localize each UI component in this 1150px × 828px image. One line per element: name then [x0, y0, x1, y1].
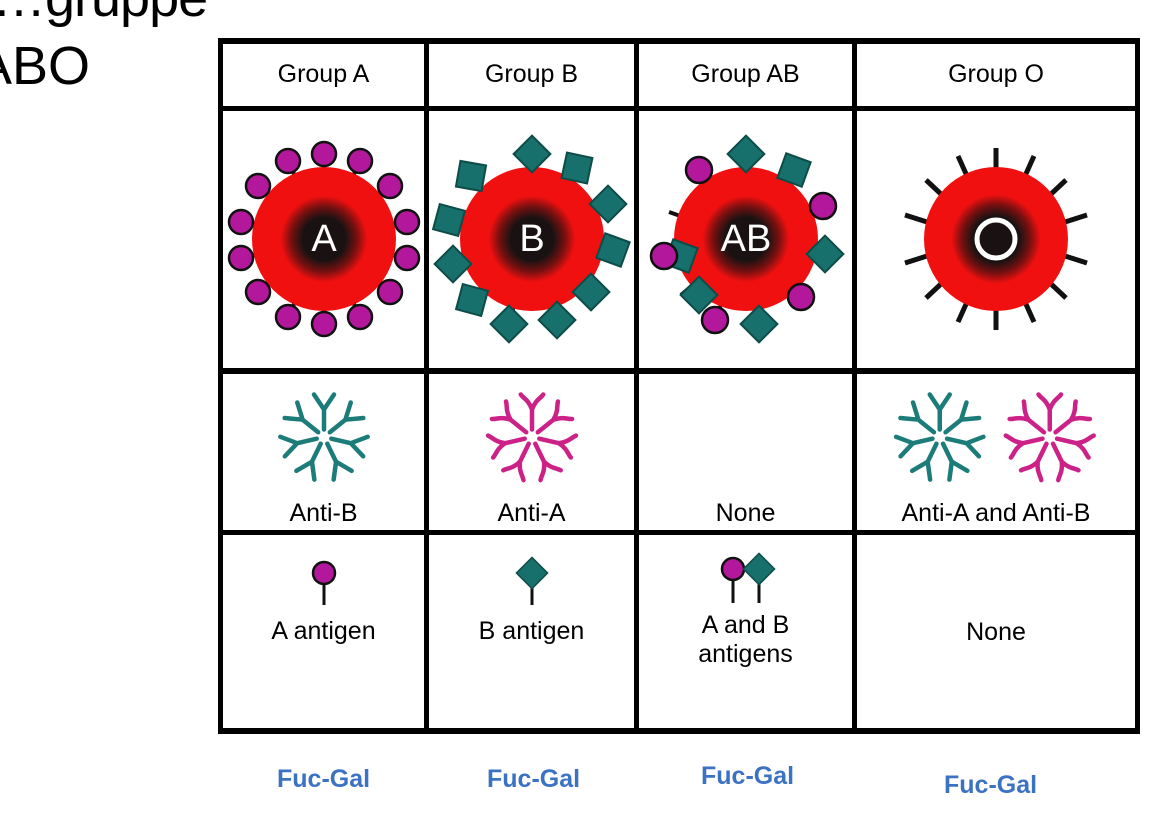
anti-b-antibody-cluster — [249, 383, 399, 491]
anti-a-and-anti-b-antibody-clusters — [871, 383, 1121, 491]
cell-letter-ab: AB — [720, 218, 771, 260]
antigen-caption-ab: A and B antigens — [698, 611, 793, 669]
fucgal-label-group-ab: Fuc-Gal — [701, 762, 794, 791]
fucgal-label-group-a: Fuc-Gal — [277, 765, 370, 794]
cell-letter-a: A — [311, 218, 337, 260]
anti-a-antibody-cluster — [457, 383, 607, 491]
cell-antibodies-group-ab: None — [639, 374, 852, 530]
red-blood-cell-ab-illustration: AB — [651, 132, 841, 347]
red-blood-cell-b-illustration: B — [437, 132, 627, 347]
b-antigen-marker — [512, 559, 552, 611]
table-border-bottom — [218, 728, 1140, 734]
antigen-caption-b: B antigen — [479, 617, 585, 645]
cell-antibodies-group-o: Anti-A and Anti-B — [857, 374, 1135, 530]
fucgal-label-group-b: Fuc-Gal — [487, 765, 580, 794]
cell-rbc-group-ab: AB — [639, 111, 852, 368]
cell-antigens-group-ab: A and B antigens — [639, 535, 852, 728]
anti-a-cluster — [1006, 395, 1094, 481]
antibody-caption-ab: None — [716, 499, 776, 527]
antibody-caption-a: Anti-B — [289, 499, 357, 527]
red-blood-cell-o-illustration — [901, 132, 1091, 347]
antigen-caption-o: None — [966, 618, 1026, 646]
blood-type-table: Group A Group B Group AB Group O — [218, 38, 1140, 733]
column-header-group-b: Group B — [429, 38, 634, 110]
table-border-right — [1135, 38, 1140, 734]
column-header-group-o: Group O — [857, 38, 1135, 110]
red-blood-cell-a-illustration: A — [229, 132, 419, 347]
a-and-b-antigen-markers — [711, 555, 781, 607]
page-title-cut: …gruppe — [0, 0, 207, 26]
cell-antibodies-group-b: Anti-A — [429, 374, 634, 530]
antigen-caption-ab-line2: antigens — [698, 640, 793, 668]
antibody-caption-o: Anti-A and Anti-B — [901, 499, 1090, 527]
a-antigen-marker — [304, 559, 344, 611]
cell-rbc-group-b: B — [429, 111, 634, 368]
antigen-caption-a: A antigen — [271, 617, 375, 645]
cell-antigens-group-b: B antigen — [429, 535, 634, 728]
antigen-caption-ab-line1: A and B — [702, 611, 790, 639]
fucgal-label-group-o: Fuc-Gal — [944, 771, 1037, 800]
cell-antibodies-group-a: Anti-B — [223, 374, 424, 530]
page-subtitle-abo: ABO — [0, 38, 90, 94]
column-header-group-a: Group A — [223, 38, 424, 110]
cell-antigens-group-a: A antigen — [223, 535, 424, 728]
column-header-text: Group B — [485, 60, 578, 89]
column-header-text: Group O — [948, 60, 1044, 89]
column-header-group-ab: Group AB — [639, 38, 852, 110]
anti-b-cluster — [896, 395, 983, 480]
antibody-caption-b: Anti-A — [497, 499, 565, 527]
cell-letter-b: B — [519, 218, 544, 260]
cell-rbc-group-o — [857, 111, 1135, 368]
cell-rbc-group-a: A — [223, 111, 424, 368]
cell-antigens-group-o: None — [857, 535, 1135, 728]
column-header-text: Group A — [278, 60, 370, 89]
column-header-text: Group AB — [691, 60, 799, 89]
